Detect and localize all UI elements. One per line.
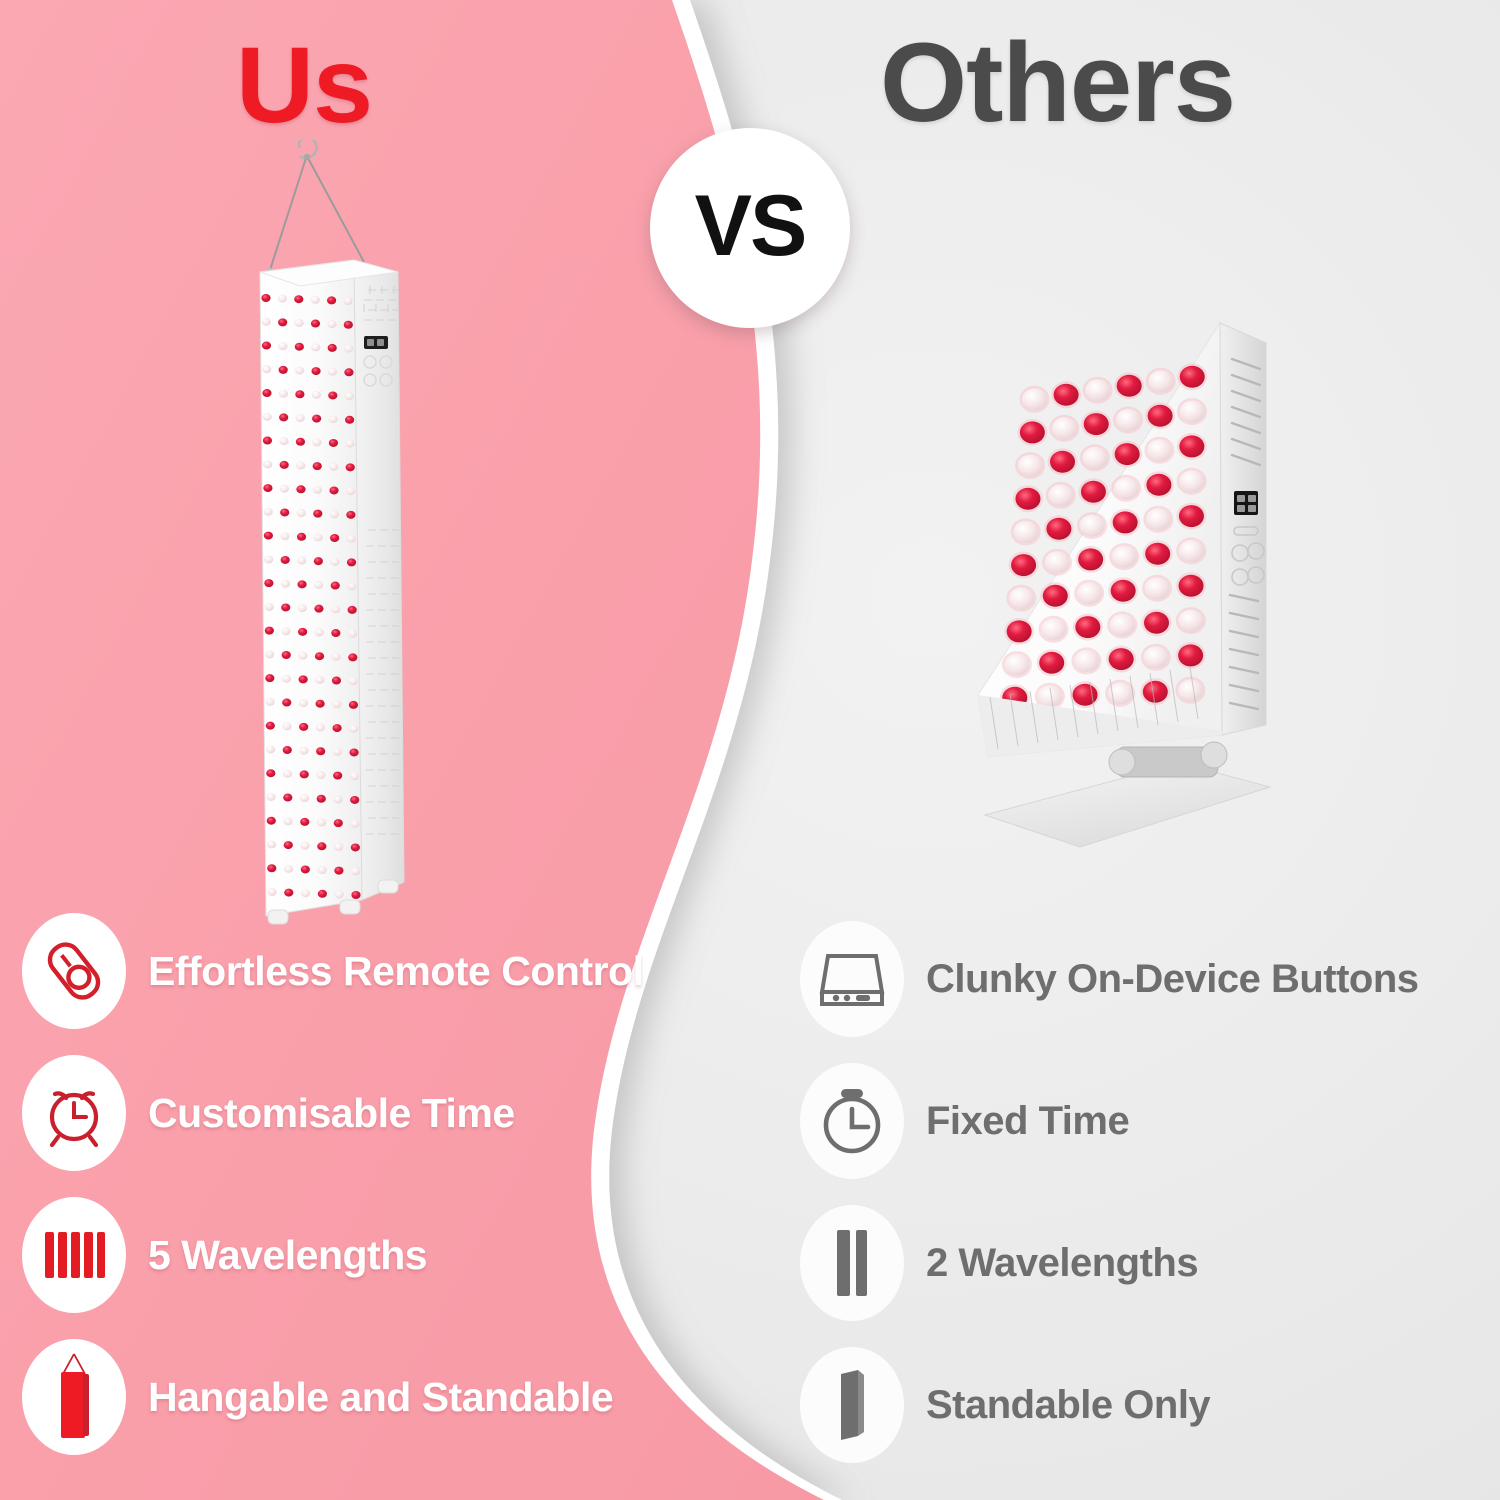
led-clear xyxy=(315,676,324,684)
led-clear xyxy=(1009,587,1034,609)
product-image-others xyxy=(930,295,1330,865)
led-clear xyxy=(312,391,321,399)
led-clear xyxy=(328,368,337,376)
led-red xyxy=(328,344,337,352)
led-clear xyxy=(327,320,336,328)
led-clear xyxy=(296,462,305,470)
led-red xyxy=(1078,548,1103,570)
led-red xyxy=(1011,554,1036,576)
led-red xyxy=(317,842,326,850)
led-red xyxy=(344,368,353,376)
led-red xyxy=(1015,488,1040,510)
led-red xyxy=(1179,575,1204,597)
stand-hinge xyxy=(1109,742,1227,777)
led-clear xyxy=(299,747,308,755)
led-red xyxy=(1179,435,1204,457)
feature-row-2-wavelengths: 2 Wavelengths xyxy=(800,1192,1460,1334)
led-red xyxy=(266,769,275,777)
led-clear xyxy=(335,890,344,898)
led-clear xyxy=(330,558,339,566)
led-clear xyxy=(313,533,322,541)
led-clear xyxy=(333,748,342,756)
led-red xyxy=(349,701,358,709)
feature-label: Clunky On-Device Buttons xyxy=(926,957,1419,1002)
led-clear xyxy=(265,603,274,611)
feature-row-remote-control: Effortless Remote Control xyxy=(22,900,682,1042)
led-clear xyxy=(1146,508,1171,530)
page-title-us: Us xyxy=(236,22,372,147)
feature-label: 5 Wavelengths xyxy=(148,1232,427,1279)
led-clear xyxy=(350,772,359,780)
led-red xyxy=(299,723,308,731)
led-red xyxy=(263,484,272,492)
led-red xyxy=(295,343,304,351)
led-red xyxy=(1146,474,1171,496)
led-red xyxy=(332,677,341,685)
led-clear xyxy=(264,508,273,516)
led-red xyxy=(329,486,338,494)
led-red xyxy=(311,320,320,328)
led-red xyxy=(351,891,360,899)
feature-list-us: Effortless Remote Control Customisable T… xyxy=(22,900,682,1468)
feature-row-fixed-time: Fixed Time xyxy=(800,1050,1460,1192)
led-red xyxy=(1039,652,1064,674)
led-clear xyxy=(1178,679,1203,701)
led-red xyxy=(1050,451,1075,473)
led-clear xyxy=(1179,470,1204,492)
led-red xyxy=(282,699,291,707)
led-clear xyxy=(312,438,321,446)
led-red xyxy=(346,463,355,471)
led-red xyxy=(334,867,343,875)
remote-control-icon xyxy=(22,913,126,1029)
led-red xyxy=(278,318,287,326)
led-red xyxy=(263,437,272,445)
led-red xyxy=(348,606,357,614)
led-red xyxy=(1115,443,1140,465)
led-clear xyxy=(343,297,352,305)
led-red xyxy=(316,747,325,755)
feature-row-clunky-buttons: Clunky On-Device Buttons xyxy=(800,908,1460,1050)
led-clear xyxy=(1077,582,1102,604)
led-clear xyxy=(345,392,354,400)
led-clear xyxy=(333,795,342,803)
led-red xyxy=(1084,413,1109,435)
led-clear xyxy=(1112,546,1137,568)
feature-row-standable-only: Standable Only xyxy=(800,1334,1460,1476)
led-clear xyxy=(279,390,288,398)
led-clear xyxy=(313,486,322,494)
led-clear xyxy=(349,725,358,733)
led-red xyxy=(1143,681,1168,703)
device-buttons-icon xyxy=(800,921,904,1037)
led-clear xyxy=(311,296,320,304)
led-red xyxy=(318,890,327,898)
led-clear xyxy=(278,342,287,350)
led-clear xyxy=(348,630,357,638)
hanging-cable-icon xyxy=(267,140,364,274)
led-clear xyxy=(332,700,341,708)
led-red xyxy=(344,321,353,329)
led-red xyxy=(261,294,270,302)
led-red xyxy=(1054,384,1079,406)
led-clear xyxy=(1004,654,1029,676)
led-clear xyxy=(1052,417,1077,439)
led-clear xyxy=(278,295,287,303)
led-clear xyxy=(316,723,325,731)
led-red xyxy=(1145,543,1170,565)
led-red xyxy=(267,864,276,872)
led-clear xyxy=(1180,401,1205,423)
led-red xyxy=(264,532,273,540)
led-red xyxy=(314,605,323,613)
led-red xyxy=(1109,648,1134,670)
led-clear xyxy=(297,509,306,517)
led-red xyxy=(296,485,305,493)
led-clear xyxy=(294,319,303,327)
led-clear xyxy=(283,817,292,825)
feature-row-customisable-time: Customisable Time xyxy=(22,1042,682,1184)
led-red xyxy=(1075,616,1100,638)
led-clear xyxy=(1178,610,1203,632)
led-clear xyxy=(317,819,326,827)
led-clear xyxy=(1116,409,1141,431)
led-red xyxy=(1117,375,1142,397)
led-red xyxy=(317,795,326,803)
led-clear xyxy=(267,840,276,848)
led-clear xyxy=(346,487,355,495)
page-title-others: Others xyxy=(880,18,1235,147)
led-red xyxy=(1113,511,1138,533)
led-clear xyxy=(1080,515,1105,537)
led-clear xyxy=(1082,447,1107,469)
feature-row-5-wavelengths: 5 Wavelengths xyxy=(22,1184,682,1326)
led-red xyxy=(1144,612,1169,634)
led-clear xyxy=(281,627,290,635)
led-red xyxy=(332,724,341,732)
led-red xyxy=(349,748,358,756)
led-red xyxy=(301,865,310,873)
led-clear xyxy=(329,415,338,423)
led-red xyxy=(1081,481,1106,503)
led-red xyxy=(315,652,324,660)
led-red xyxy=(347,558,356,566)
led-clear xyxy=(1148,370,1173,392)
two-bars-icon xyxy=(800,1205,904,1321)
led-clear xyxy=(299,699,308,707)
led-red xyxy=(295,390,304,398)
led-red xyxy=(346,511,355,519)
led-clear xyxy=(1147,439,1172,461)
led-red xyxy=(331,582,340,590)
led-red xyxy=(266,722,275,730)
led-clear xyxy=(262,365,271,373)
feature-label: 2 Wavelengths xyxy=(926,1241,1198,1286)
led-clear xyxy=(347,582,356,590)
feature-list-others: Clunky On-Device Buttons Fixed Time xyxy=(800,908,1460,1476)
standing-panel-icon xyxy=(800,1347,904,1463)
led-clear xyxy=(1013,521,1038,543)
led-clear xyxy=(262,318,271,326)
led-red xyxy=(297,533,306,541)
vs-badge: VS xyxy=(650,128,850,328)
led-clear xyxy=(301,889,310,897)
led-clear xyxy=(334,843,343,851)
feature-label: Fixed Time xyxy=(926,1099,1129,1144)
led-red xyxy=(1073,684,1098,706)
led-red xyxy=(262,342,271,350)
led-red xyxy=(279,366,288,374)
led-red xyxy=(312,415,321,423)
led-clear xyxy=(351,867,360,875)
led-clear xyxy=(314,581,323,589)
led-clear xyxy=(297,557,306,565)
led-red xyxy=(264,579,273,587)
led-clear xyxy=(1074,650,1099,672)
led-clear xyxy=(1143,646,1168,668)
stopwatch-icon xyxy=(800,1063,904,1179)
led-red xyxy=(267,817,276,825)
led-clear xyxy=(1018,455,1043,477)
feature-label: Hangable and Standable xyxy=(148,1374,613,1421)
led-clear xyxy=(298,604,307,612)
five-bars-icon xyxy=(22,1197,126,1313)
led-red xyxy=(1043,585,1068,607)
led-red xyxy=(1046,518,1071,540)
led-red xyxy=(348,653,357,661)
led-clear xyxy=(1048,484,1073,506)
led-clear xyxy=(345,440,354,448)
led-clear xyxy=(316,771,325,779)
led-red xyxy=(284,841,293,849)
led-clear xyxy=(1179,540,1204,562)
led-clear xyxy=(280,485,289,493)
led-clear xyxy=(298,652,307,660)
feature-label: Effortless Remote Control xyxy=(148,948,644,995)
led-red xyxy=(279,413,288,421)
led-red xyxy=(333,772,342,780)
led-red xyxy=(313,462,322,470)
led-clear xyxy=(1041,618,1066,640)
led-clear xyxy=(344,345,353,353)
led-red xyxy=(298,628,307,636)
led-clear xyxy=(265,698,274,706)
led-clear xyxy=(329,463,338,471)
led-red xyxy=(262,389,271,397)
led-red xyxy=(283,746,292,754)
vs-label: VS xyxy=(695,177,806,276)
led-clear xyxy=(265,650,274,658)
led-red xyxy=(280,461,289,469)
feature-row-hangable-standable: Hangable and Standable xyxy=(22,1326,682,1468)
led-red xyxy=(311,367,320,375)
led-clear xyxy=(296,414,305,422)
led-clear xyxy=(279,437,288,445)
led-red xyxy=(345,416,354,424)
led-clear xyxy=(266,793,275,801)
control-display xyxy=(1234,491,1258,515)
product-image-us xyxy=(236,140,446,930)
infographic-canvas: Us Others VS xyxy=(0,0,1500,1500)
led-red xyxy=(294,295,303,303)
led-clear xyxy=(331,605,340,613)
led-red xyxy=(1178,644,1203,666)
led-red xyxy=(313,510,322,518)
alarm-clock-icon xyxy=(22,1055,126,1171)
led-red xyxy=(300,770,309,778)
led-clear xyxy=(311,343,320,351)
led-clear xyxy=(282,722,291,730)
led-red xyxy=(265,674,274,682)
led-red xyxy=(296,438,305,446)
led-red xyxy=(1180,366,1205,388)
led-clear xyxy=(283,770,292,778)
led-clear xyxy=(349,677,358,685)
led-clear xyxy=(284,865,293,873)
led-clear xyxy=(263,460,272,468)
led-clear xyxy=(1110,614,1135,636)
led-clear xyxy=(295,366,304,374)
led-clear xyxy=(1114,477,1139,499)
led-red xyxy=(331,629,340,637)
led-red xyxy=(334,819,343,827)
led-red xyxy=(265,627,274,635)
led-clear xyxy=(266,745,275,753)
hanging-panel-icon xyxy=(22,1339,126,1455)
led-red xyxy=(300,818,309,826)
feature-label: Standable Only xyxy=(926,1383,1210,1428)
led-clear xyxy=(1085,379,1110,401)
led-red xyxy=(1148,405,1173,427)
led-red xyxy=(1020,421,1045,443)
led-clear xyxy=(282,675,291,683)
led-red xyxy=(328,391,337,399)
led-red xyxy=(350,796,359,804)
led-clear xyxy=(350,820,359,828)
led-red xyxy=(327,296,336,304)
led-clear xyxy=(330,510,339,518)
led-red xyxy=(1007,620,1032,642)
led-red xyxy=(280,508,289,516)
feature-label: Customisable Time xyxy=(148,1090,515,1137)
led-clear xyxy=(347,535,356,543)
led-red xyxy=(314,557,323,565)
led-clear xyxy=(1022,388,1047,410)
led-clear xyxy=(267,888,276,896)
led-clear xyxy=(318,866,327,874)
led-red xyxy=(297,580,306,588)
led-red xyxy=(1111,580,1136,602)
led-red xyxy=(330,534,339,542)
control-display xyxy=(364,336,388,349)
led-red xyxy=(283,794,292,802)
led-red xyxy=(284,889,293,897)
led-red xyxy=(299,675,308,683)
led-clear xyxy=(315,628,324,636)
led-red xyxy=(1179,505,1204,527)
led-red xyxy=(281,556,290,564)
led-red xyxy=(315,700,324,708)
led-red xyxy=(329,439,338,447)
led-clear xyxy=(263,413,272,421)
led-red xyxy=(281,603,290,611)
led-clear xyxy=(264,555,273,563)
led-red xyxy=(282,651,291,659)
led-clear xyxy=(1145,577,1170,599)
led-clear xyxy=(1045,551,1070,573)
led-red xyxy=(351,843,360,851)
led-clear xyxy=(332,653,341,661)
led-clear xyxy=(280,532,289,540)
led-clear xyxy=(300,842,309,850)
led-clear xyxy=(300,794,309,802)
led-clear xyxy=(281,580,290,588)
